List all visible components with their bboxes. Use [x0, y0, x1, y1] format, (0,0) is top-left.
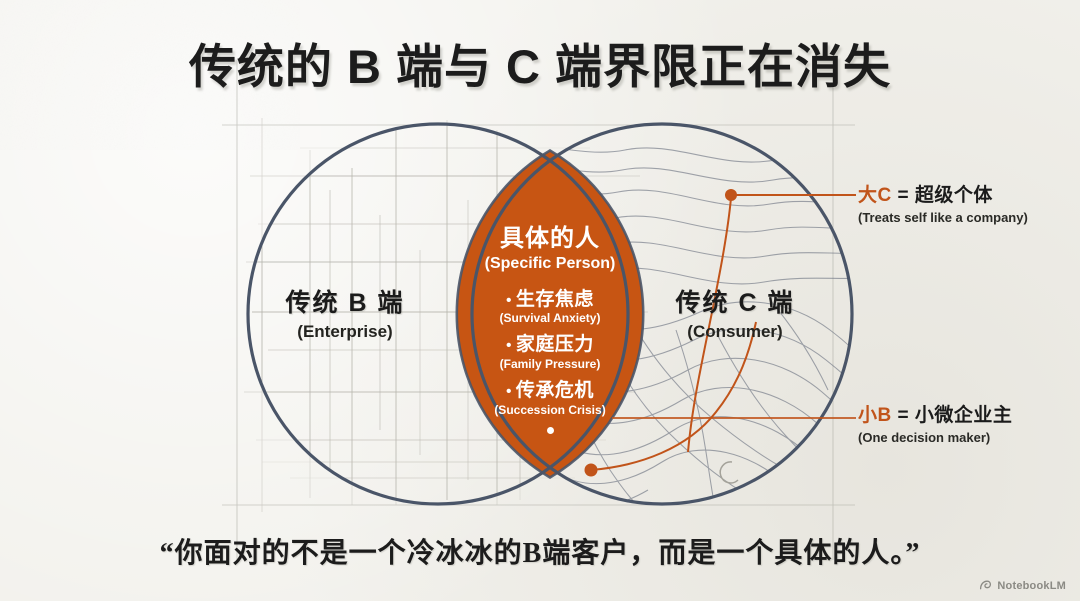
page-title: 传统的 B 端与 C 端界限正在消失	[0, 28, 1080, 97]
intersection-lens	[457, 151, 643, 478]
right-circle-label: 传统 C 端 (Consumer)	[640, 288, 830, 342]
annotation-key: 大C	[858, 185, 892, 206]
c-doodle	[720, 462, 738, 483]
leader-line-top	[725, 189, 856, 201]
annotation-equals: =	[892, 185, 915, 206]
annotation-big-c: 大C = 超级个体 (Treats self like a company)	[858, 180, 1028, 225]
annotation-sub-text: (Treats self like a company)	[858, 210, 1028, 225]
annotation-value: 小微企业主	[915, 405, 1013, 426]
infographic-canvas: 传统的 B 端与 C 端界限正在消失 传统 B 端 (Enterprise) 传…	[0, 0, 1080, 601]
watermark-label: NotebookLM	[997, 580, 1066, 592]
annotation-equals: =	[892, 405, 915, 426]
annotation-sub-text: (One decision maker)	[858, 430, 1012, 445]
notebooklm-icon	[979, 579, 992, 592]
annotation-small-b: 小B = 小微企业主 (One decision maker)	[858, 400, 1012, 445]
right-circle-label-en: (Consumer)	[640, 322, 830, 342]
left-circle-label-en: (Enterprise)	[250, 322, 440, 342]
annotation-main-text: 小B = 小微企业主	[858, 400, 1012, 427]
notebooklm-watermark: NotebookLM	[979, 579, 1066, 592]
annotation-main-text: 大C = 超级个体	[858, 180, 1028, 207]
right-circle-label-cn: 传统 C 端	[640, 288, 830, 319]
annotation-key: 小B	[858, 405, 892, 426]
annotation-value: 超级个体	[915, 185, 993, 206]
left-circle-label-cn: 传统 B 端	[250, 288, 440, 319]
left-circle-label: 传统 B 端 (Enterprise)	[250, 288, 440, 342]
footer-quote: “你面对的不是一个冷冰冰的B端客户，而是一个具体的人。”	[0, 531, 1080, 571]
